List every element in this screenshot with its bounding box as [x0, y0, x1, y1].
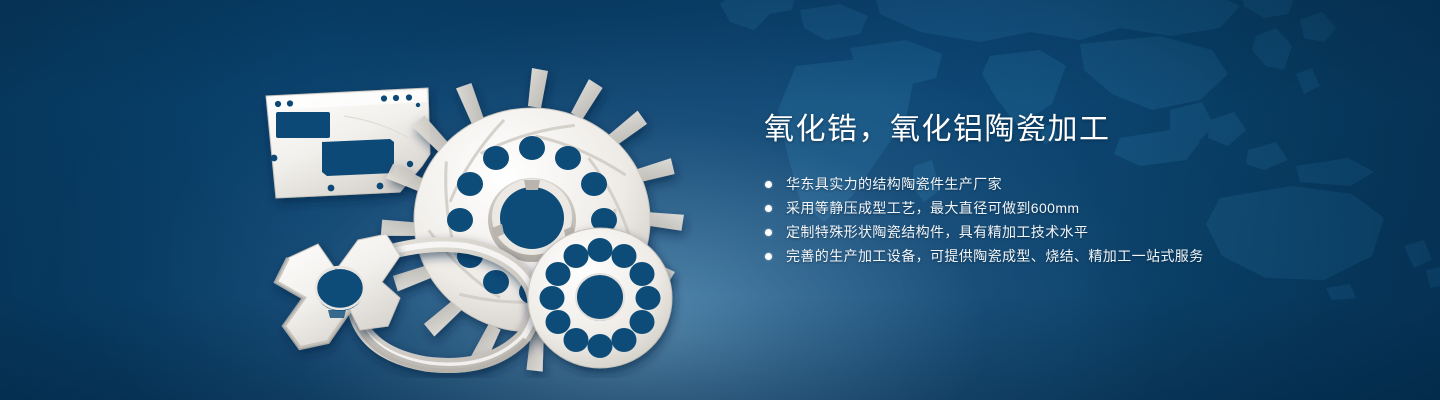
page-title: 氧化锆，氧化铝陶瓷加工	[764, 110, 1384, 150]
list-item-label: 定制特殊形状陶瓷结构件，具有精加工技术水平	[786, 224, 1088, 240]
list-item: 华东具实力的结构陶瓷件生产厂家	[764, 172, 1384, 196]
product-photo-group	[232, 42, 694, 378]
bullet-dot-icon	[765, 181, 772, 188]
hero-banner: 氧化锆，氧化铝陶瓷加工 华东具实力的结构陶瓷件生产厂家 采用等静压成型工艺，最大…	[0, 0, 1440, 400]
feature-list: 华东具实力的结构陶瓷件生产厂家 采用等静压成型工艺，最大直径可做到600mm 定…	[764, 172, 1384, 268]
list-item-label: 华东具实力的结构陶瓷件生产厂家	[786, 176, 1002, 192]
bullet-dot-icon	[765, 205, 772, 212]
product-ceramic-star-part	[276, 234, 400, 348]
list-item: 采用等静压成型工艺，最大直径可做到600mm	[764, 196, 1384, 220]
list-item-label: 完善的生产加工设备，可提供陶瓷成型、烧结、精加工一站式服务	[786, 248, 1204, 264]
list-item: 定制特殊形状陶瓷结构件，具有精加工技术水平	[764, 220, 1384, 244]
bullet-dot-icon	[765, 229, 772, 236]
list-item: 完善的生产加工设备，可提供陶瓷成型、烧结、精加工一站式服务	[764, 244, 1384, 268]
list-item-label: 采用等静压成型工艺，最大直径可做到600mm	[786, 200, 1079, 216]
bullet-dot-icon	[765, 253, 772, 260]
product-ceramic-hole-disc	[528, 228, 672, 368]
copy-block: 氧化锆，氧化铝陶瓷加工 华东具实力的结构陶瓷件生产厂家 采用等静压成型工艺，最大…	[764, 110, 1384, 268]
